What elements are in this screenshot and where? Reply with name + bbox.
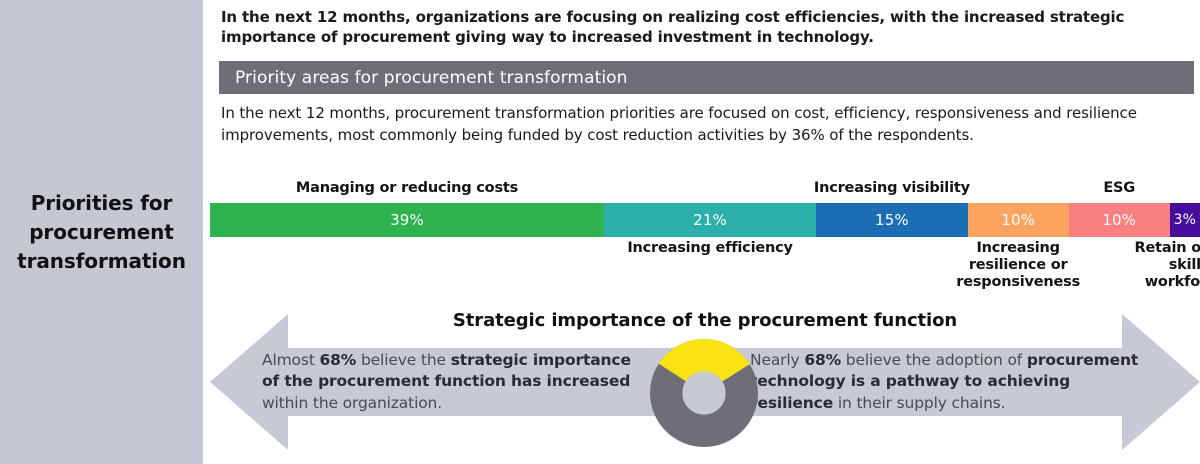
section-header-title: Priority areas for procurement transform… (219, 68, 628, 88)
bar-segment-5: 3% (1170, 203, 1200, 237)
arrow-left-mid: believe the (356, 351, 451, 369)
content-area: In the next 12 months, organizations are… (203, 0, 1200, 464)
bar-segment-4: 10% (1069, 203, 1170, 237)
bar-segment-2: 15% (816, 203, 968, 237)
bar-bottom-label-row: Increasing efficiencyIncreasing resilien… (210, 237, 1200, 299)
lede-paragraph: In the next 12 months, organizations are… (221, 8, 1171, 48)
arrow-left-prefix: Almost (262, 351, 320, 369)
sidebar-title: Priorities for procurement transformatio… (0, 189, 203, 276)
bar-segment-1: 21% (604, 203, 816, 237)
bar-category-label-5: Retain or re-skill workforce (1130, 240, 1200, 291)
bar-segment-3: 10% (968, 203, 1069, 237)
arrow-left-stat: 68% (320, 351, 357, 369)
stacked-bar: 39%21%15%10%10%3% (210, 203, 1200, 237)
bar-category-label-0: Managing or reducing costs (190, 180, 624, 197)
strategic-importance-arrow-block: Strategic importance of the procurement … (210, 300, 1200, 464)
intro-paragraph: In the next 12 months, procurement trans… (221, 103, 1196, 146)
arrow-right-mid: believe the adoption of (841, 351, 1027, 369)
infographic-page: Priorities for procurement transformatio… (0, 0, 1200, 464)
arrow-right-prefix: Nearly (750, 351, 804, 369)
bar-category-label-1: Increasing efficiency (584, 240, 836, 257)
arrow-right-suffix: in their supply chains. (833, 394, 1005, 412)
priority-bar-chart: Managing or reducing costsIncreasing vis… (210, 175, 1200, 300)
strategic-importance-donut-chart (650, 339, 758, 447)
bar-top-label-row: Managing or reducing costsIncreasing vis… (210, 175, 1200, 199)
bar-category-label-3: Increasing resilience or responsiveness (948, 240, 1088, 291)
sidebar: Priorities for procurement transformatio… (0, 0, 203, 464)
arrow-heading: Strategic importance of the procurement … (210, 310, 1200, 331)
arrow-text-left: Almost 68% believe the strategic importa… (262, 350, 652, 414)
arrow-text-right: Nearly 68% believe the adoption of procu… (750, 350, 1150, 414)
bar-category-label-4: ESG (1049, 180, 1190, 197)
section-header-bar: Priority areas for procurement transform… (219, 61, 1194, 94)
donut-center (682, 371, 725, 414)
arrow-left-suffix: within the organization. (262, 394, 442, 412)
arrow-right-stat: 68% (804, 351, 841, 369)
bar-segment-0: 39% (210, 203, 604, 237)
bar-category-label-2: Increasing visibility (796, 180, 988, 197)
